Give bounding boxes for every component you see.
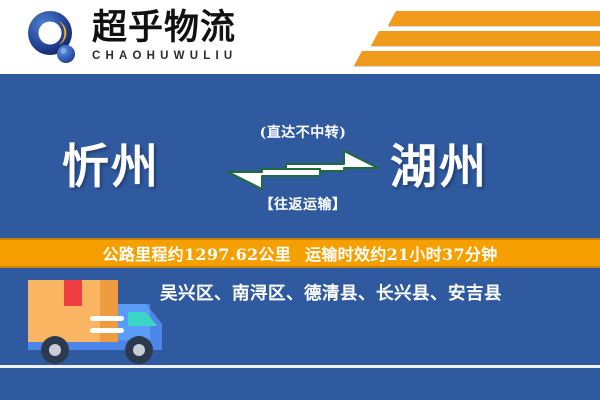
main-blue-panel: 忻州 (直达不中转) 【往返运输】 湖州 公路里程约1297.62公里	[0, 74, 600, 400]
route-row: 忻州 (直达不中转) 【往返运输】 湖州	[0, 100, 600, 240]
road-line-divider	[0, 365, 600, 368]
route-caption-roundtrip: 【往返运输】	[228, 194, 378, 214]
company-logo-icon	[26, 10, 82, 66]
header-stripe-3	[354, 51, 600, 66]
brand-name: 超乎物流	[92, 9, 272, 47]
header-stripe-2	[371, 31, 600, 46]
brand-block: 超乎物流 CHAOHUWULIU	[92, 9, 272, 62]
distance-text: 公路里程约1297.62公里	[102, 241, 291, 265]
double-headed-arrow-icon	[226, 147, 380, 198]
route-info-bar: 公路里程约1297.62公里 运输时效约21小时37分钟	[0, 238, 600, 268]
origin-city-label: 忻州	[62, 128, 160, 197]
route-arrow-group: (直达不中转) 【往返运输】	[228, 120, 378, 230]
banner-header: 超乎物流 CHAOHUWULIU	[0, 0, 600, 74]
destination-city-label: 湖州	[390, 128, 488, 197]
header-stripe-1	[388, 11, 600, 26]
brand-pinyin: CHAOHUWULIU	[92, 50, 272, 62]
coverage-districts-label: 吴兴区、南浔区、德清县、长兴县、安吉县	[160, 280, 580, 305]
route-caption-direct: (直达不中转)	[228, 122, 378, 142]
delivery-truck-icon	[22, 274, 174, 374]
duration-text: 运输时效约21小时37分钟	[305, 241, 497, 265]
logistics-route-banner: 超乎物流 CHAOHUWULIU 忻州 (直达不中转)	[0, 0, 600, 400]
